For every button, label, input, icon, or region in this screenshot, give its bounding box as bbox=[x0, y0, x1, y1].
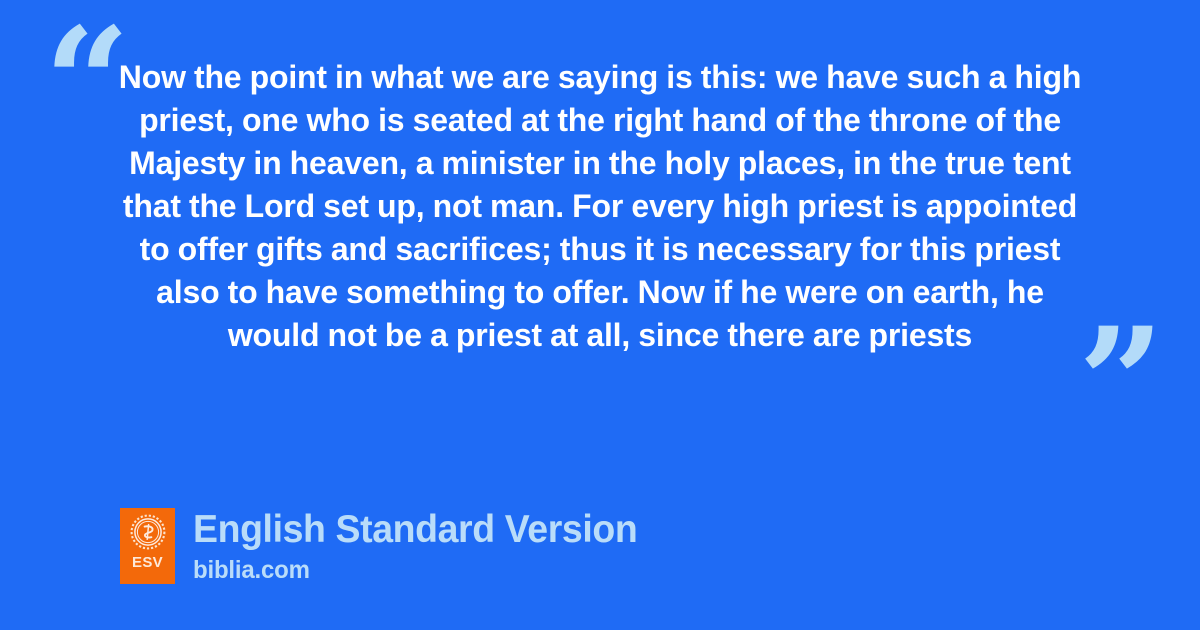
esv-abbreviation-label: ESV bbox=[132, 555, 163, 570]
attribution-footer: ESV English Standard Version biblia.com bbox=[120, 508, 656, 584]
site-url-label: biblia.com bbox=[193, 556, 637, 584]
quote-block: Now the point in what we are saying is t… bbox=[100, 56, 1100, 357]
quote-card: “ Now the point in what we are saying is… bbox=[0, 0, 1200, 630]
seal-emblem-icon bbox=[130, 514, 166, 550]
footer-text-group: English Standard Version biblia.com bbox=[193, 508, 656, 584]
bible-version-name: English Standard Version bbox=[193, 508, 637, 552]
closing-quotation-mark: ” bbox=[1078, 308, 1162, 458]
quote-text: Now the point in what we are saying is t… bbox=[108, 56, 1093, 357]
esv-badge: ESV bbox=[120, 508, 175, 584]
